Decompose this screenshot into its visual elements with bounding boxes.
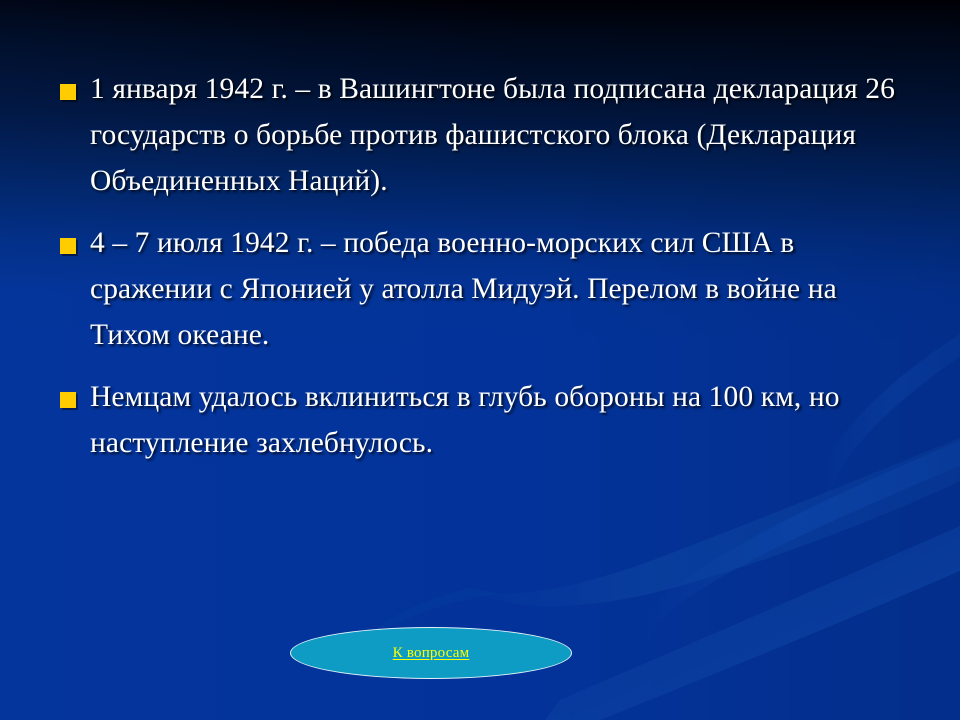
bullet-text-midway-battle: 4 – 7 июля 1942 г. – победа военно-морск… — [90, 220, 916, 358]
square-bullet-icon — [60, 238, 76, 254]
slide-body-content: 1 января 1942 г. – в Вашингтоне была под… — [60, 66, 916, 482]
square-bullet-icon — [60, 84, 76, 100]
list-item: 1 января 1942 г. – в Вашингтоне была под… — [60, 66, 916, 204]
to-questions-button[interactable]: К вопросам — [290, 627, 572, 679]
presentation-slide: 1 января 1942 г. – в Вашингтоне была под… — [0, 0, 960, 720]
bullet-text-declaration-united-nations: 1 января 1942 г. – в Вашингтоне была под… — [90, 66, 916, 204]
square-bullet-icon — [60, 392, 76, 408]
list-item: Немцам удалось вклиниться в глубь оборон… — [60, 374, 916, 466]
bullet-text-german-advance: Немцам удалось вклиниться в глубь оборон… — [90, 374, 916, 466]
list-item: 4 – 7 июля 1942 г. – победа военно-морск… — [60, 220, 916, 358]
to-questions-button-label: К вопросам — [393, 645, 470, 662]
